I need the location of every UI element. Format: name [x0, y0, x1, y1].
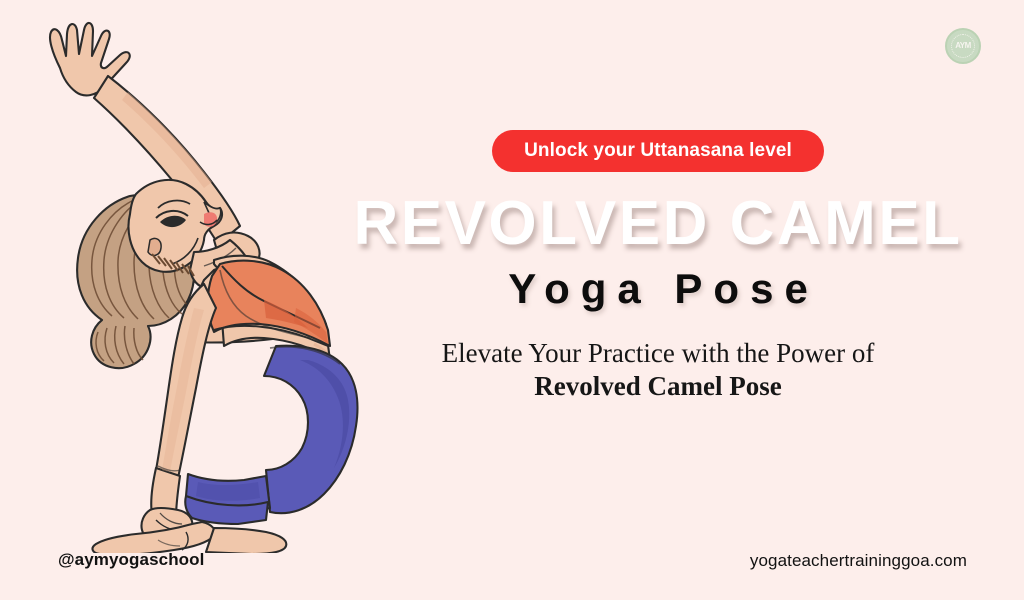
- page-subtitle: Yoga Pose: [300, 267, 1016, 311]
- poster-canvas: AYM: [0, 0, 1024, 600]
- tagline-line-2: Revolved Camel Pose: [300, 370, 1016, 403]
- logo-inner-ring: AYM: [951, 34, 975, 58]
- social-handle[interactable]: @aymyogaschool: [58, 550, 204, 570]
- logo-monogram: AYM: [955, 42, 971, 50]
- tagline-line-1: Elevate Your Practice with the Power of: [442, 338, 875, 368]
- tagline: Elevate Your Practice with the Power of …: [300, 337, 1016, 403]
- page-title: REVOLVED CAMEL: [300, 192, 1016, 255]
- unlock-level-badge[interactable]: Unlock your Uttanasana level: [492, 130, 824, 172]
- aym-yoga-school-logo-icon[interactable]: AYM: [945, 28, 981, 64]
- text-content-block: Unlock your Uttanasana level REVOLVED CA…: [300, 130, 1016, 403]
- website-url[interactable]: yogateachertraininggoa.com: [750, 551, 967, 571]
